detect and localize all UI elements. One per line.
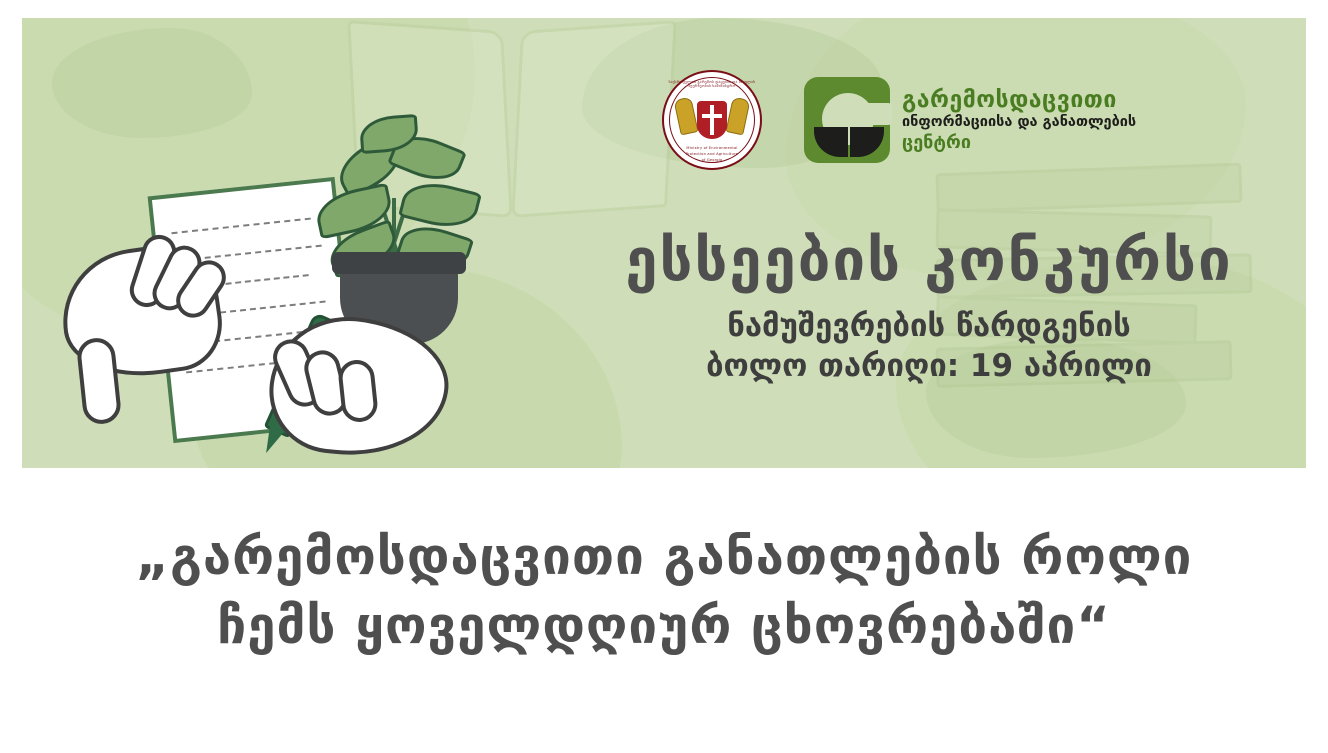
logo-row: საქართველოს გარემოს დაცვისა და სოფლის მე…	[662, 70, 1136, 170]
ceie-mark-icon	[804, 77, 890, 163]
hands-writing-illustration	[40, 38, 560, 458]
deadline-line-2: ბოლო თარიღი: 19 აპრილი	[562, 347, 1296, 387]
seal-microtext-en-1: Ministry of Environmental	[664, 146, 760, 150]
banner-title: ესსეების კონკურსი	[562, 230, 1296, 291]
banner-subtitle: ნამუშევრების წარდგენის ბოლო თარიღი: 19 ა…	[562, 307, 1296, 386]
ceie-logo-line2: ინფორმაციისა და განათლების	[902, 115, 1136, 131]
seal-microtext-top: საქართველოს გარემოს დაცვისა და სოფლის მე…	[664, 80, 760, 88]
essay-topic-panel: „გარემოსდაცვითი განათლების როლი ჩემს ყოვ…	[22, 468, 1306, 718]
deadline-line-1: ნამუშევრების წარდგენის	[562, 307, 1296, 347]
ceie-logo-text: გარემოსდაცვითი ინფორმაციისა და განათლები…	[902, 88, 1136, 153]
essay-topic-line-1: „გარემოსდაცვითი განათლების როლი	[136, 524, 1193, 593]
seal-microtext-en-3: of Georgia	[664, 158, 760, 162]
poster-root: საქართველოს გარემოს დაცვისა და სოფლის მე…	[0, 0, 1328, 753]
ministry-seal-icon: საქართველოს გარემოს დაცვისა და სოფლის მე…	[662, 70, 762, 170]
seal-microtext-en-2: Protection and Agriculture	[664, 152, 760, 156]
ceie-logo: გარემოსდაცვითი ინფორმაციისა და განათლები…	[804, 77, 1136, 163]
illustrated-banner: საქართველოს გარემოს დაცვისა და სოფლის მე…	[22, 18, 1306, 468]
essay-topic-line-2: ჩემს ყოველდღიურ ცხოვრებაში“	[217, 593, 1111, 662]
ceie-logo-line1: გარემოსდაცვითი	[902, 88, 1136, 113]
banner-copy: ესსეების კონკურსი ნამუშევრების წარდგენის…	[562, 230, 1296, 386]
ceie-logo-line3: ცენტრი	[902, 133, 1136, 152]
